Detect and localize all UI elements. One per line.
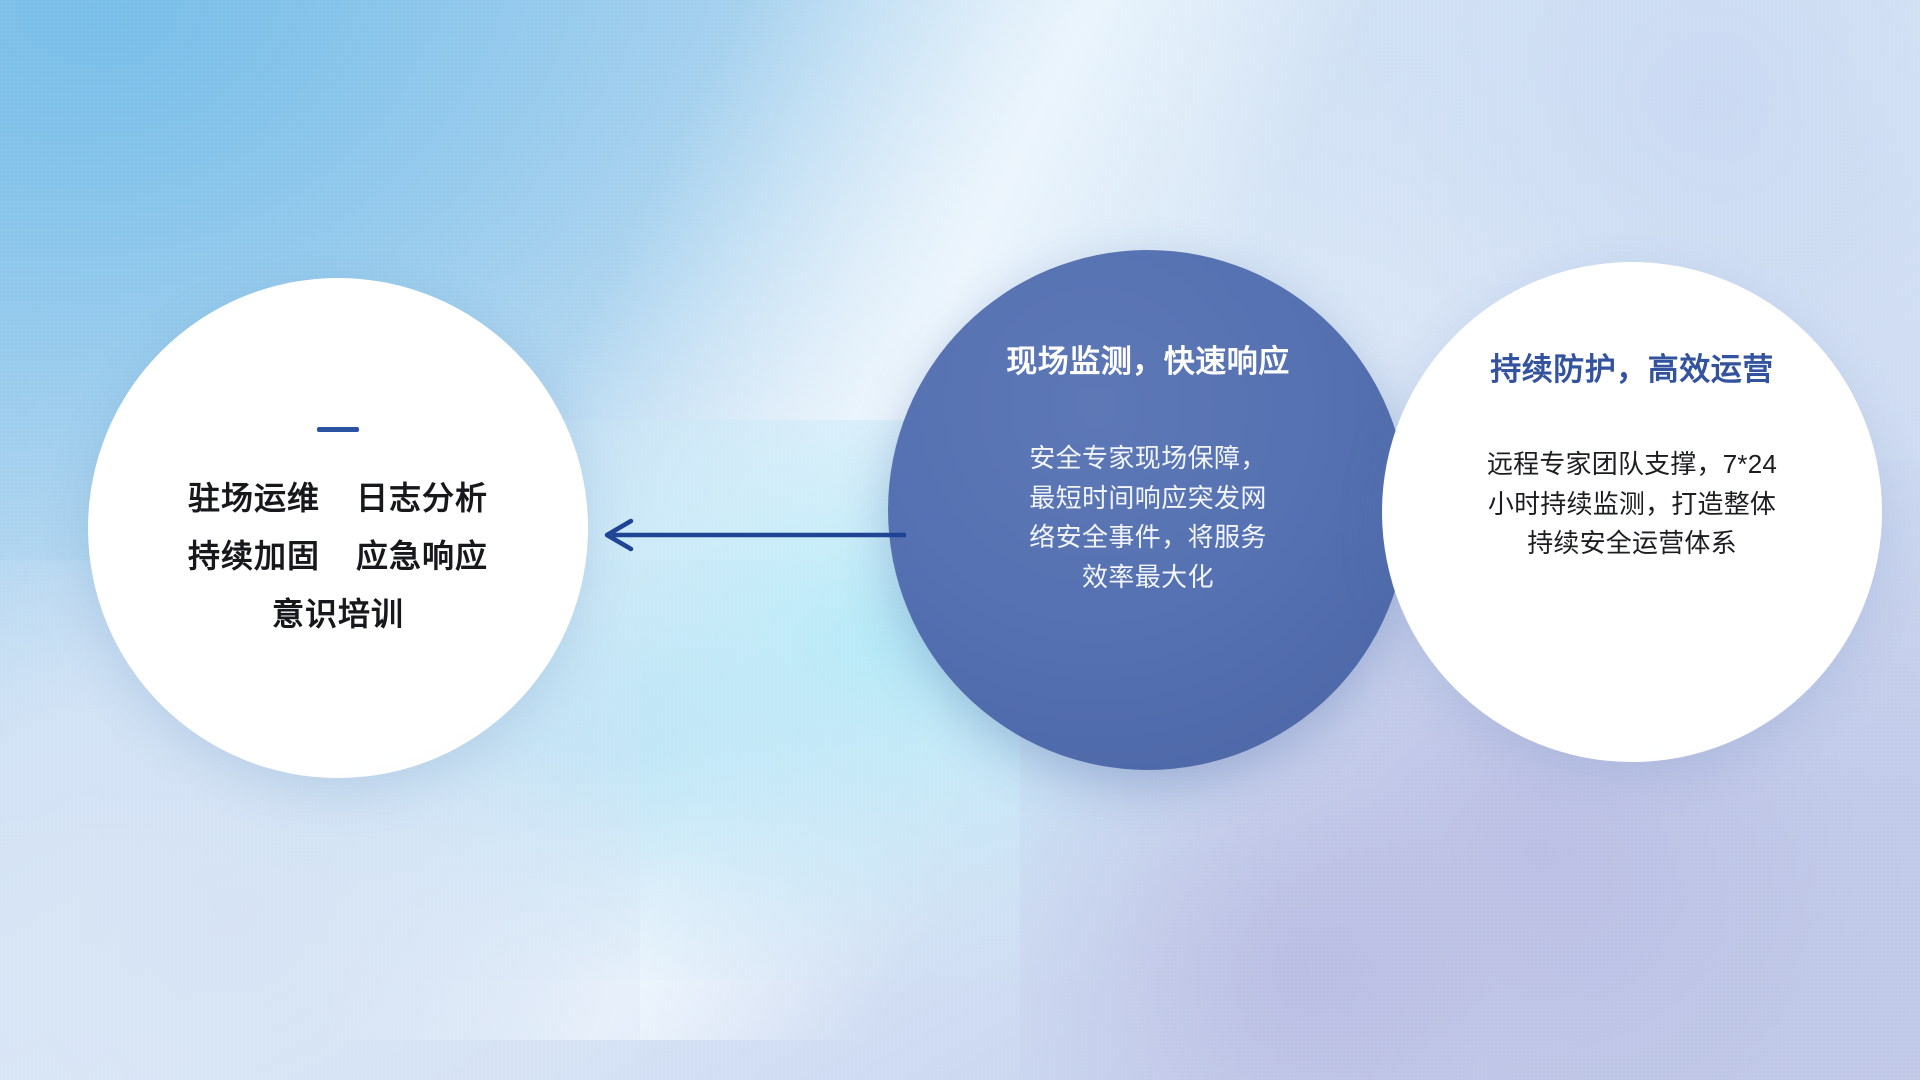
capability-keyword[interactable]: 日志分析 — [356, 482, 488, 514]
capability-row: 持续加固 应急响应 — [188, 540, 488, 572]
circle-capabilities[interactable]: 驻场运维 日志分析 持续加固 应急响应 意识培训 — [88, 278, 588, 778]
connector-arrow — [590, 505, 910, 565]
diagram-stage: 现场监测，快速响应 安全专家现场保障， 最短时间响应突发网 络安全事件，将服务 … — [0, 0, 1920, 1080]
body-line: 小时持续监测，打造整体 — [1487, 485, 1777, 525]
circle-onsite-response[interactable]: 现场监测，快速响应 安全专家现场保障， 最短时间响应突发网 络安全事件，将服务 … — [888, 250, 1408, 770]
circle-continuous-operation[interactable]: 持续防护，高效运营 远程专家团队支撑，7*24 小时持续监测，打造整体 持续安全… — [1382, 262, 1882, 762]
capability-keyword[interactable]: 驻场运维 — [188, 482, 320, 514]
capability-keyword[interactable]: 应急响应 — [356, 540, 488, 572]
leftward-arrow-icon — [607, 521, 906, 549]
circle-continuous-operation-title: 持续防护，高效运营 — [1490, 354, 1774, 385]
body-line: 最短时间响应突发网 — [1029, 479, 1267, 519]
circle-onsite-response-body: 安全专家现场保障， 最短时间响应突发网 络安全事件，将服务 效率最大化 — [1029, 439, 1267, 597]
body-line: 效率最大化 — [1029, 558, 1267, 598]
body-line: 安全专家现场保障， — [1029, 439, 1267, 479]
capability-keyword[interactable]: 持续加固 — [188, 540, 320, 572]
body-line: 远程专家团队支撑，7*24 — [1487, 445, 1777, 485]
body-line: 络安全事件，将服务 — [1029, 518, 1267, 558]
body-line: 持续安全运营体系 — [1487, 524, 1777, 564]
capability-row: 意识培训 — [272, 598, 404, 630]
capability-keyword-list: 驻场运维 日志分析 持续加固 应急响应 意识培训 — [188, 482, 488, 630]
accent-dash-icon — [317, 427, 359, 432]
circle-continuous-operation-body: 远程专家团队支撑，7*24 小时持续监测，打造整体 持续安全运营体系 — [1487, 445, 1777, 564]
circle-onsite-response-title: 现场监测，快速响应 — [1006, 346, 1290, 377]
capability-keyword[interactable]: 意识培训 — [272, 598, 404, 630]
capability-row: 驻场运维 日志分析 — [188, 482, 488, 514]
